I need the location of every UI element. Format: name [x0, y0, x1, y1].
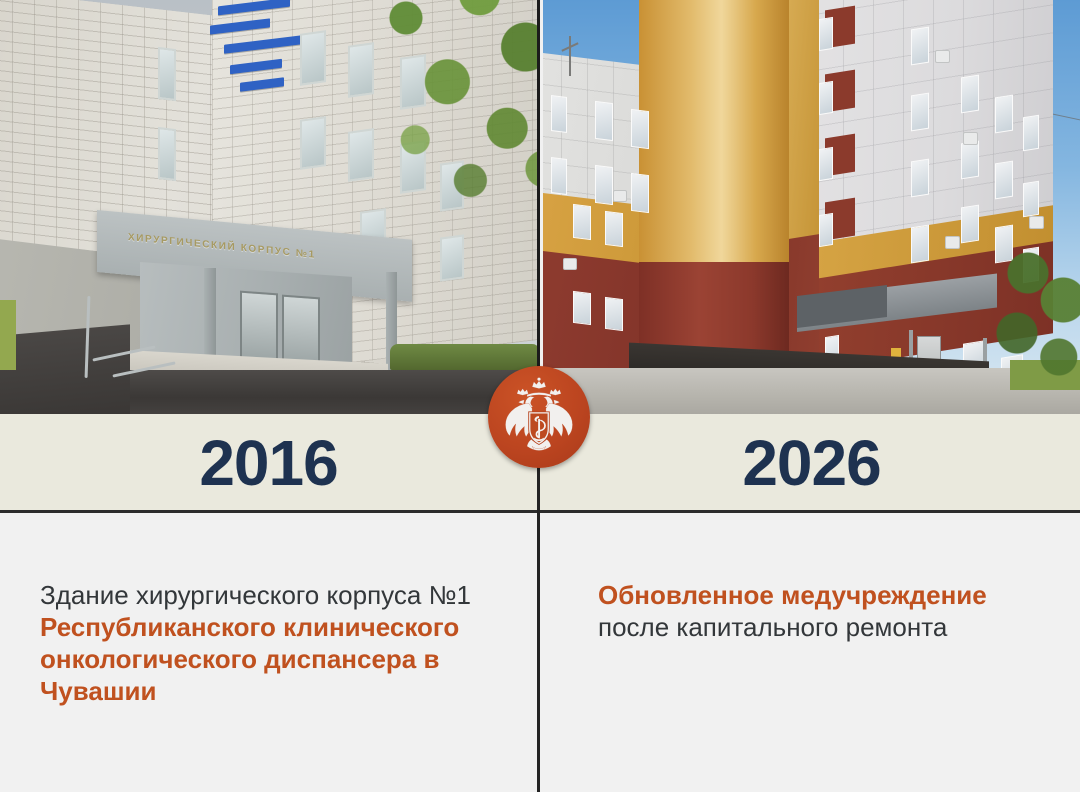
rounded-corner-column	[639, 0, 789, 280]
caption-after-highlight: Обновленное медучреждение	[598, 580, 987, 610]
window	[995, 161, 1013, 200]
caption-before-plain-1: Здание хирургического корпуса	[40, 580, 429, 610]
window	[1023, 181, 1039, 218]
window	[158, 47, 176, 101]
window	[631, 173, 649, 213]
window	[961, 75, 979, 114]
year-cell-after: 2026	[543, 414, 1080, 512]
window	[961, 205, 979, 244]
photo-vertical-divider	[537, 0, 540, 414]
window	[300, 116, 326, 170]
air-conditioner	[963, 132, 978, 145]
air-conditioner	[1029, 216, 1044, 229]
window	[595, 101, 613, 141]
air-conditioner	[945, 236, 960, 249]
photo-row: ХИРУРГИЧЕСКИЙ КОРПУС №1	[0, 0, 1080, 414]
tree-foliage	[337, 0, 537, 250]
window	[631, 109, 649, 149]
window	[819, 81, 833, 115]
window	[995, 95, 1013, 134]
year-label-after: 2026	[742, 431, 880, 495]
air-conditioner	[935, 50, 950, 63]
window	[573, 291, 591, 325]
window	[961, 141, 979, 180]
window	[573, 204, 591, 240]
window	[551, 157, 567, 195]
air-conditioner	[563, 258, 577, 270]
caption-after-plain: после капитального ремонта	[598, 612, 947, 642]
asphalt-pavement-side	[0, 324, 130, 414]
window	[911, 93, 929, 132]
window	[911, 225, 929, 264]
window	[911, 159, 929, 198]
caption-before-plain-2: №1	[429, 580, 471, 610]
before-photo: ХИРУРГИЧЕСКИЙ КОРПУС №1	[0, 0, 537, 414]
russian-ministry-of-health-emblem-icon	[488, 366, 590, 468]
roof-antenna	[569, 36, 571, 76]
window	[158, 127, 176, 181]
horizontal-divider	[0, 510, 1080, 513]
window	[1023, 115, 1039, 152]
hedge	[390, 344, 537, 370]
year-label-before: 2016	[199, 431, 337, 495]
window	[595, 165, 613, 205]
caption-after: Обновленное медучреждение после капиталь…	[598, 580, 1048, 644]
after-photo	[543, 0, 1080, 414]
window	[605, 211, 623, 247]
grass-strip	[0, 300, 16, 370]
air-conditioner	[613, 190, 627, 202]
window	[819, 17, 833, 51]
window	[551, 95, 567, 133]
entrance-door	[240, 291, 278, 366]
comparison-poster: ХИРУРГИЧЕСКИЙ КОРПУС №1	[0, 0, 1080, 792]
window	[819, 147, 833, 181]
window	[911, 27, 929, 66]
window	[605, 297, 623, 331]
window	[819, 213, 833, 247]
tree-foliage	[984, 240, 1080, 390]
caption-area: Здание хирургического корпуса №1 Республ…	[0, 514, 1080, 792]
year-cell-before: 2016	[0, 414, 537, 512]
window	[300, 30, 326, 86]
caption-before-highlight: Республиканского клинического онкологиче…	[40, 612, 459, 706]
caption-before: Здание хирургического корпуса №1 Республ…	[40, 580, 520, 708]
